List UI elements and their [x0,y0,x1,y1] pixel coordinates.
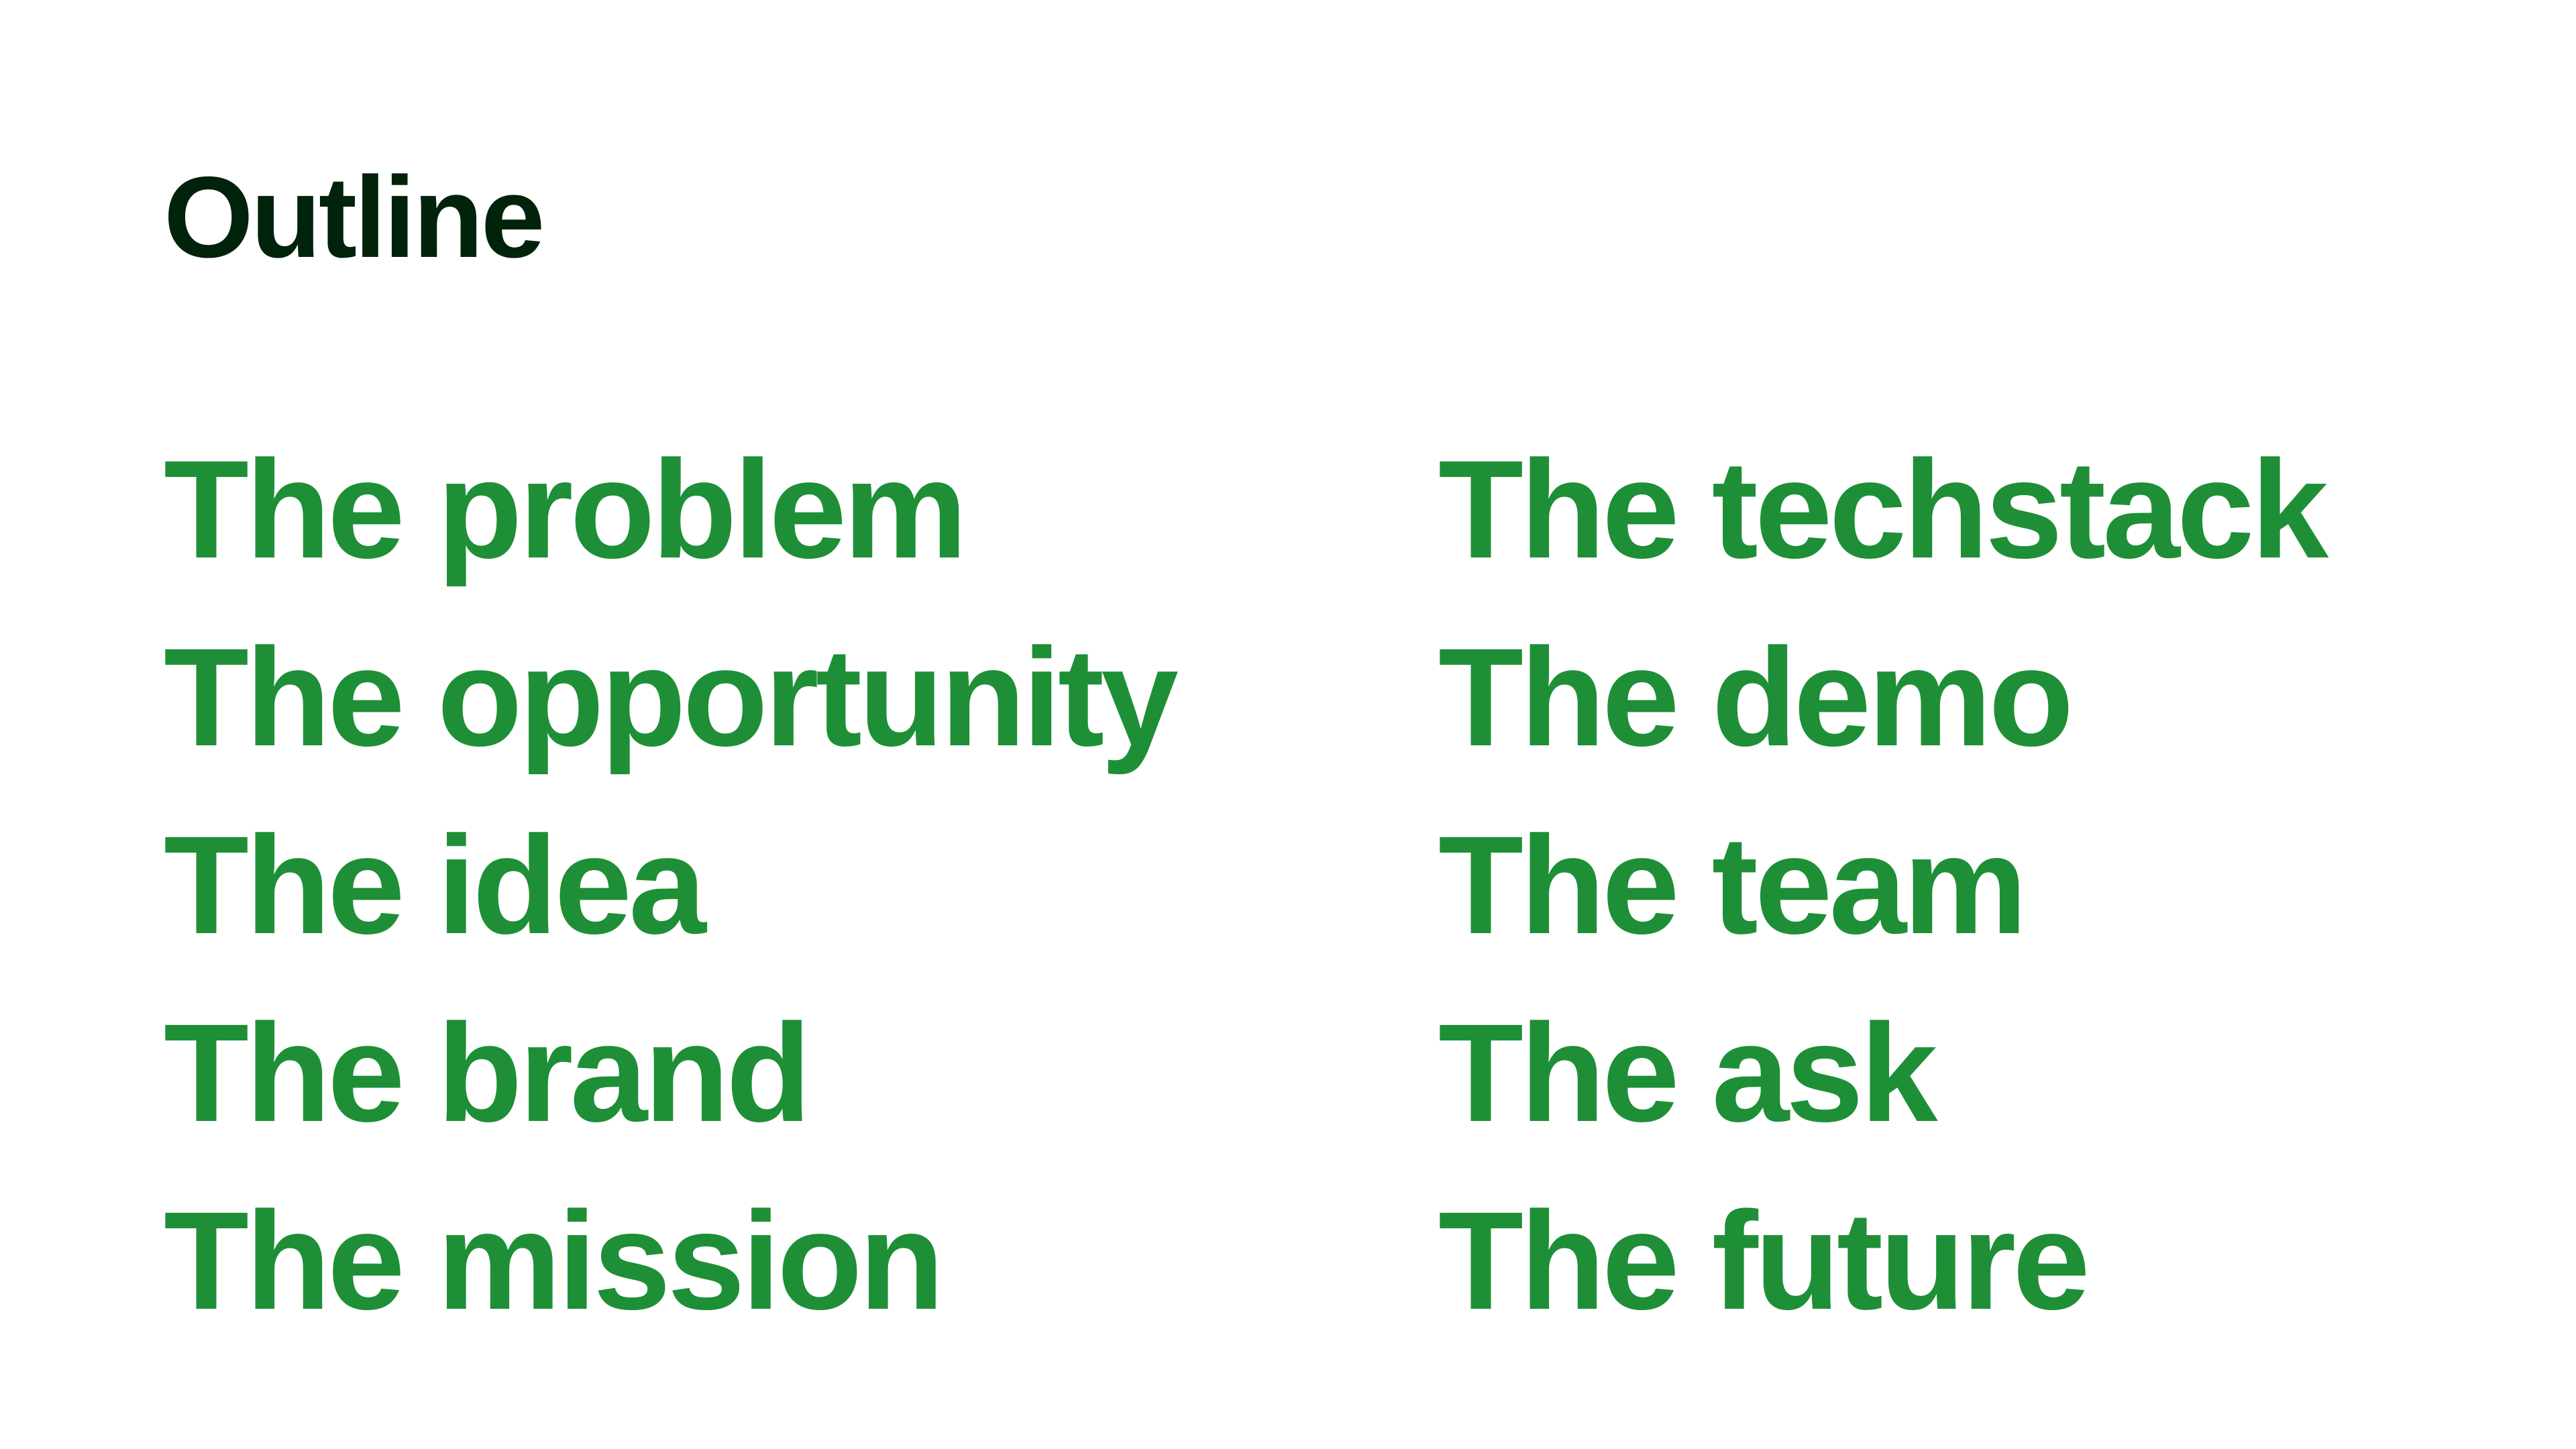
outline-item-the-problem[interactable]: The problem [164,416,1438,604]
outline-item-the-brand[interactable]: The brand [164,979,1438,1167]
outline-item-the-ask[interactable]: The ask [1438,979,2445,1167]
outline-item-the-techstack[interactable]: The techstack [1438,416,2445,604]
outline-item-the-opportunity[interactable]: The opportunity [164,604,1438,792]
outline-item-the-demo[interactable]: The demo [1438,604,2445,792]
outline-item-the-team[interactable]: The team [1438,792,2445,979]
outline-item-the-idea[interactable]: The idea [164,792,1438,979]
outline-item-the-mission[interactable]: The mission [164,1167,1438,1355]
outline-slide: Outline The problem The opportunity The … [0,0,2576,1449]
outline-item-the-future[interactable]: The future [1438,1167,2445,1355]
outline-list: The problem The opportunity The idea The… [164,416,2445,1355]
outline-right-column: The techstack The demo The team The ask … [1438,416,2445,1355]
page-title: Outline [164,160,542,275]
outline-left-column: The problem The opportunity The idea The… [164,416,1438,1355]
